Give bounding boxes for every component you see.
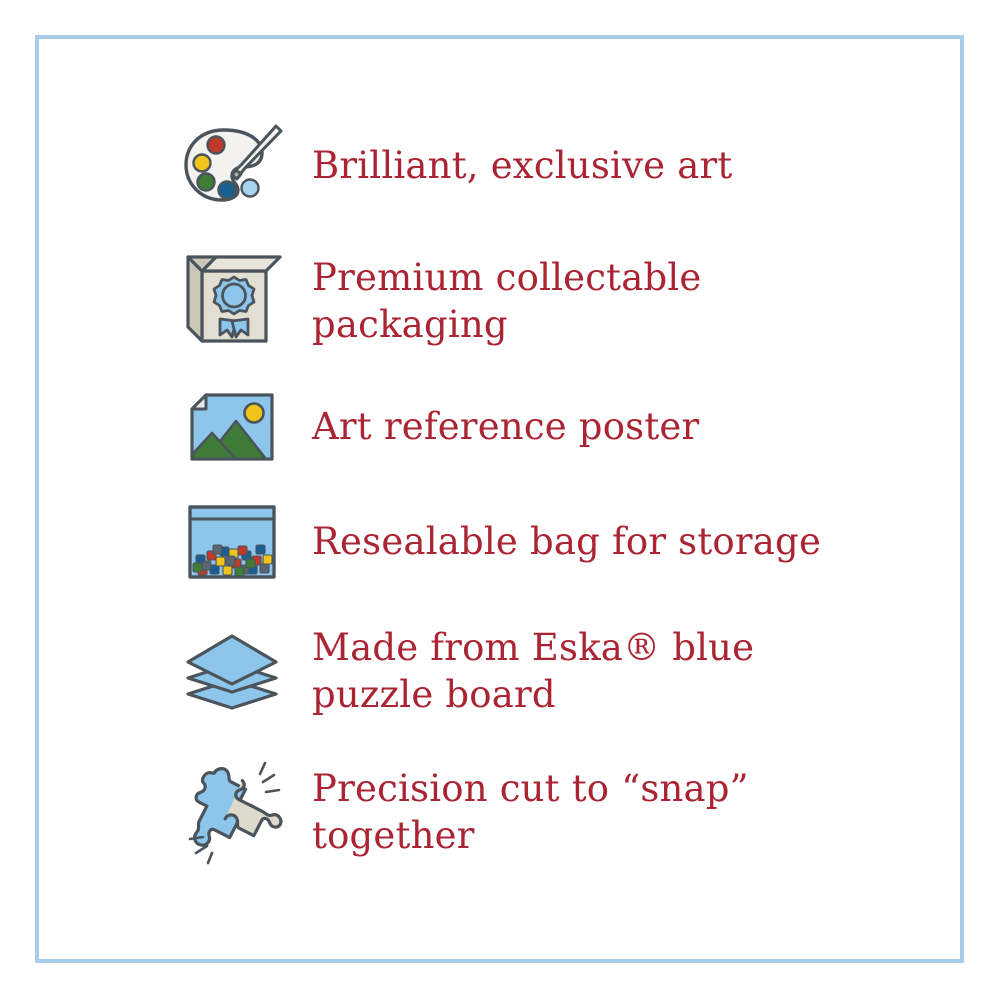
feature-label-line: Made from Eska® blue	[312, 624, 868, 671]
award-box-icon	[168, 246, 296, 356]
feature-label: Precision cut to “snap” together	[296, 765, 868, 860]
resealable-bag-icon	[168, 487, 296, 597]
feature-label-line: Brilliant, exclusive art	[312, 142, 868, 189]
feature-label: Art reference poster	[296, 403, 868, 450]
feature-label-line: puzzle board	[312, 671, 868, 718]
feature-label: Resealable bag for storage	[296, 518, 868, 565]
feature-item-resealable-bag-for-storage: Resealable bag for storage	[168, 484, 868, 600]
feature-label-line: Premium collectable	[312, 254, 868, 301]
poster-image-icon	[168, 372, 296, 482]
feature-label-line: Art reference poster	[312, 403, 868, 450]
product-features-panel: Brilliant, exclusive art	[0, 0, 1000, 1000]
feature-item-art-reference-poster: Art reference poster	[168, 370, 868, 484]
feature-item-brilliant-exclusive-art: Brilliant, exclusive art	[168, 100, 868, 232]
feature-label-line: Precision cut to “snap”	[312, 765, 868, 812]
feature-label-line: together	[312, 812, 868, 859]
feature-list: Brilliant, exclusive art	[168, 100, 868, 882]
feature-label-line: Resealable bag for storage	[312, 518, 868, 565]
feature-label-line: packaging	[312, 301, 868, 348]
feature-item-premium-collectable-packaging: Premium collectable packaging	[168, 232, 868, 370]
feature-label: Premium collectable packaging	[296, 254, 868, 349]
feature-item-precision-cut-to-snap-together: Precision cut to “snap” together	[168, 742, 868, 882]
puzzle-pieces-snap-icon	[168, 757, 296, 867]
stacked-board-icon	[168, 616, 296, 726]
feature-item-made-from-eska-blue-puzzle-board: Made from Eska® blue puzzle board	[168, 600, 868, 742]
feature-label: Made from Eska® blue puzzle board	[296, 624, 868, 719]
paint-palette-icon	[168, 111, 296, 221]
feature-label: Brilliant, exclusive art	[296, 142, 868, 189]
